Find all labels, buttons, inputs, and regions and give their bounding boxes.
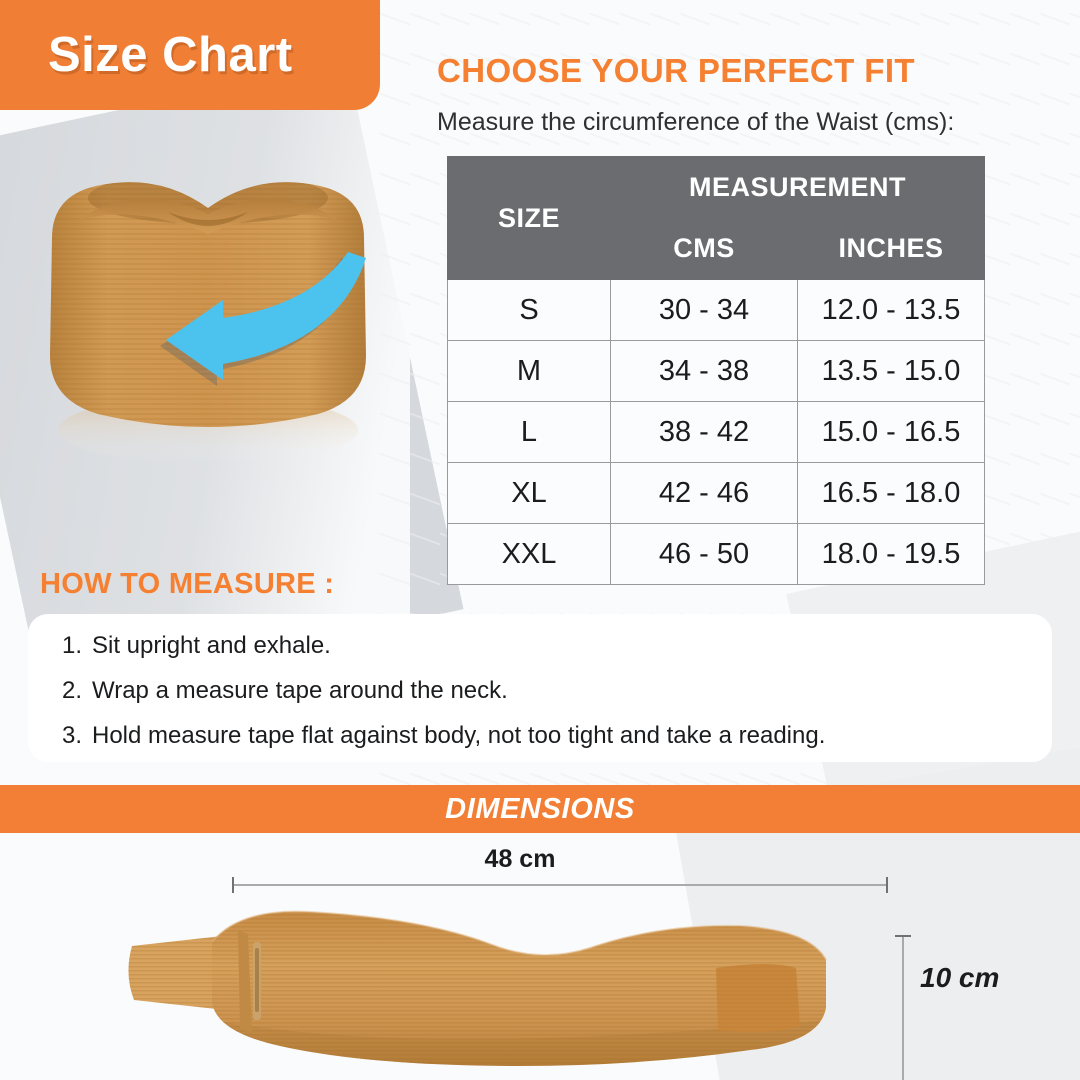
page-title: Size Chart [0,27,293,83]
cell-size: XL [448,463,611,524]
column-header-size: SIZE [448,157,611,280]
width-dimension-label: 48 cm [0,845,1080,874]
size-chart-table: SIZE MEASUREMENT CMS INCHES S 30 - 34 12… [447,156,985,585]
cell-size: M [448,341,611,402]
section-subheading: Measure the circumference of the Waist (… [437,108,954,137]
cell-size: S [448,280,611,341]
width-value: 48 cm [485,845,556,873]
step-number: 3. [62,724,92,748]
table-row: M 34 - 38 13.5 - 15.0 [448,341,985,402]
step-number: 2. [62,679,92,703]
dimensions-band: DIMENSIONS [0,785,1080,833]
collar-flat-illustration [120,890,910,1080]
cell-cms: 46 - 50 [611,524,798,585]
table-row: S 30 - 34 12.0 - 13.5 [448,280,985,341]
size-chart-infographic: Size Chart [0,0,1080,1080]
table-header: SIZE MEASUREMENT CMS INCHES [448,157,985,280]
list-item: 2. Wrap a measure tape around the neck. [62,679,1042,703]
cell-inches: 15.0 - 16.5 [798,402,985,463]
cell-inches: 16.5 - 18.0 [798,463,985,524]
table-row: XL 42 - 46 16.5 - 18.0 [448,463,985,524]
cell-size: XXL [448,524,611,585]
cell-inches: 18.0 - 19.5 [798,524,985,585]
step-text: Hold measure tape flat against body, not… [92,724,825,748]
list-item: 3. Hold measure tape flat against body, … [62,724,1042,748]
cell-cms: 42 - 46 [611,463,798,524]
how-to-measure-heading: HOW TO MEASURE : [40,568,334,601]
column-header-inches: INCHES [798,218,985,280]
cell-cms: 38 - 42 [611,402,798,463]
table-row: XXL 46 - 50 18.0 - 19.5 [448,524,985,585]
height-dimension-label: 10 cm [920,962,999,994]
cervical-collar-flat-image [120,890,910,1080]
size-chart-title-banner: Size Chart [0,0,380,110]
cell-size: L [448,402,611,463]
cervical-collar-illustration [18,168,398,468]
dimensions-label: DIMENSIONS [445,793,635,826]
step-text: Wrap a measure tape around the neck. [92,679,508,703]
cell-inches: 13.5 - 15.0 [798,341,985,402]
table-body: S 30 - 34 12.0 - 13.5 M 34 - 38 13.5 - 1… [448,280,985,585]
step-number: 1. [62,634,92,658]
cervical-collar-product-image [18,168,398,468]
height-dimension-line [902,935,904,1080]
width-dimension-line [232,884,888,886]
column-header-measurement: MEASUREMENT [611,157,985,218]
list-item: 1. Sit upright and exhale. [62,634,1042,658]
how-to-measure-steps: 1. Sit upright and exhale. 2. Wrap a mea… [62,620,1042,769]
cell-inches: 12.0 - 13.5 [798,280,985,341]
table-row: L 38 - 42 15.0 - 16.5 [448,402,985,463]
column-header-cms: CMS [611,218,798,280]
section-heading: CHOOSE YOUR PERFECT FIT [437,52,915,90]
cell-cms: 30 - 34 [611,280,798,341]
cell-cms: 34 - 38 [611,341,798,402]
step-text: Sit upright and exhale. [92,634,331,658]
